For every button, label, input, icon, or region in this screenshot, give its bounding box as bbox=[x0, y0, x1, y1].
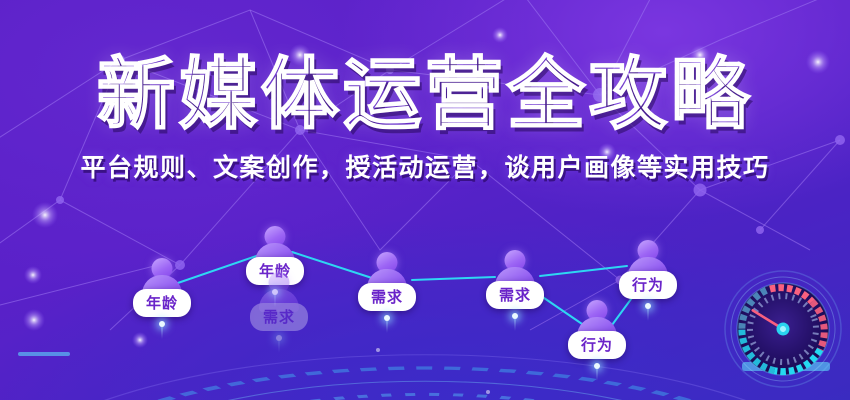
node-dot bbox=[159, 321, 165, 327]
node-dot bbox=[512, 313, 518, 319]
node-label: 行为 bbox=[568, 331, 626, 359]
speedometer-gauge bbox=[722, 268, 844, 390]
graph-node-需求[interactable]: 需求 bbox=[358, 252, 416, 311]
graph-node-行为[interactable]: 行为 bbox=[568, 300, 626, 359]
graph-node-行为[interactable]: 行为 bbox=[619, 240, 677, 299]
node-dot bbox=[276, 335, 282, 341]
graph-node-需求[interactable]: 需求 bbox=[250, 272, 308, 331]
graph-node-需求[interactable]: 需求 bbox=[486, 250, 544, 309]
promo-banner: 新媒体运营全攻略 新媒体运营全攻略 平台规则、文案创作，授活动运营，谈用户画像等… bbox=[0, 0, 850, 400]
node-dot bbox=[645, 303, 651, 309]
node-label: 年龄 bbox=[133, 289, 191, 317]
node-label: 需求 bbox=[486, 281, 544, 309]
node-label: 需求 bbox=[250, 303, 308, 331]
graph-node-年龄[interactable]: 年龄 bbox=[133, 258, 191, 317]
node-dot bbox=[594, 363, 600, 369]
node-dot bbox=[384, 315, 390, 321]
node-label: 行为 bbox=[619, 271, 677, 299]
node-label: 需求 bbox=[358, 283, 416, 311]
